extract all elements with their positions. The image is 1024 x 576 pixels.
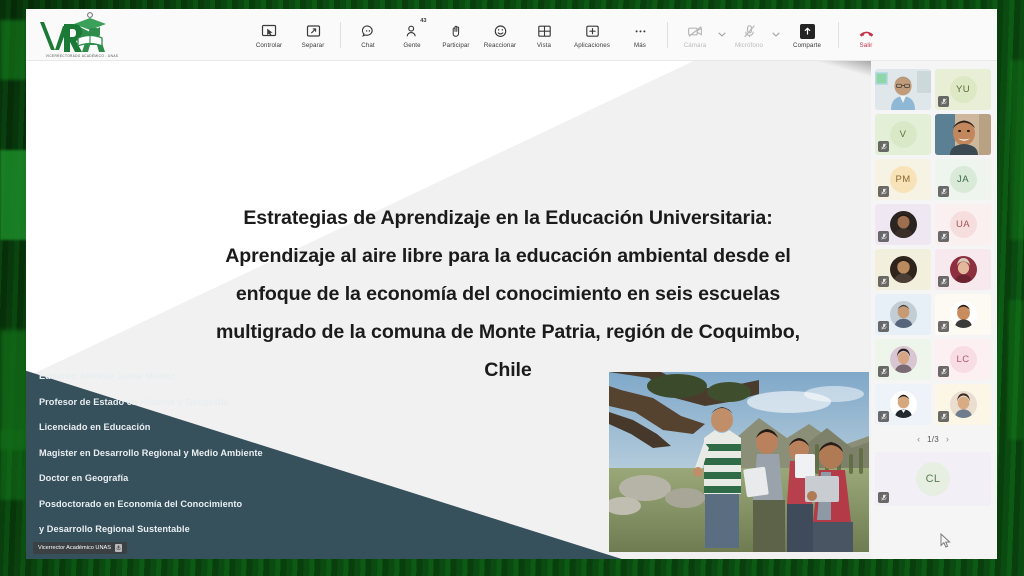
participant-tile-active-speaker[interactable]	[935, 114, 991, 155]
slide-title: Estrategias de Aprendizaje en la Educaci…	[158, 199, 858, 389]
pointer-screen-icon	[261, 20, 277, 39]
logo-subtitle: VICERRECTORADO ACADÉMICO - UNAS	[46, 53, 119, 58]
toolbar-label: Separar	[302, 42, 325, 50]
more-ellipsis-icon	[633, 20, 648, 39]
microphone-muted-icon	[938, 411, 949, 422]
shared-content-stage[interactable]: Estrategias de Aprendizaje en la Educaci…	[26, 61, 871, 559]
participant-tile-ja[interactable]: JA	[935, 159, 991, 200]
microphone-muted-icon	[878, 411, 889, 422]
presentation-slide: Estrategias de Aprendizaje en la Educaci…	[26, 61, 871, 559]
microphone-muted-icon	[938, 96, 949, 107]
avatar-initials: JA	[950, 166, 977, 193]
participant-tile-4[interactable]	[875, 249, 931, 290]
slide-title-line: Aprendizaje al aire libre para la educac…	[158, 237, 858, 275]
toolbar-label: Chat	[361, 42, 374, 50]
toolbar-button-gente[interactable]: 43 Gente	[390, 12, 434, 58]
participant-tile-9[interactable]	[875, 384, 931, 425]
microphone-muted-icon	[878, 492, 889, 503]
credential-line: Profesor de Estado en Historia y Geograf…	[39, 397, 469, 407]
people-count-badge: 43	[420, 18, 426, 24]
author-credentials: Eduardo Antonio Jaime Muñoz Profesor de …	[39, 371, 469, 550]
toolbar-label: Reaccionar	[484, 42, 516, 50]
toolbar-label: Más	[634, 42, 646, 50]
microphone-muted-icon	[938, 321, 949, 332]
microphone-muted-icon	[878, 141, 889, 152]
toolbar-button-participar[interactable]: Participar	[434, 12, 478, 58]
participant-tile-yu[interactable]: YU	[935, 69, 991, 110]
avatar-initials: UA	[950, 211, 977, 238]
hang-up-icon	[858, 20, 875, 39]
detach-window-icon	[306, 20, 321, 39]
toolbar-label: Gente	[403, 42, 420, 50]
toolbar-button-vista[interactable]: Vista	[522, 12, 566, 58]
toolbar-button-controlar[interactable]: Controlar	[247, 12, 291, 58]
slide-title-line: multigrado de la comuna de Monte Patria,…	[158, 313, 858, 351]
toolbar-button-leave[interactable]: Salir	[844, 12, 888, 58]
toolbar-label: Controlar	[256, 42, 282, 50]
pager-indicator: 1/3	[927, 435, 939, 444]
avatar-initials: V	[890, 121, 917, 148]
outdoor-education-photo	[609, 372, 869, 552]
participant-tile-6[interactable]	[875, 294, 931, 335]
slide-title-line: Estrategias de Aprendizaje en la Educaci…	[158, 199, 858, 237]
pager-prev-chevron-icon[interactable]: ‹	[917, 435, 920, 444]
participant-tile-7[interactable]	[935, 294, 991, 335]
microphone-muted-icon	[878, 231, 889, 242]
avatar-initials: YU	[950, 76, 977, 103]
toolbar-controls: Controlar Separar	[138, 9, 997, 61]
avatar-photo	[950, 256, 977, 283]
avatar-initials: PM	[890, 166, 917, 193]
microphone-muted-icon	[938, 366, 949, 377]
raise-hand-icon	[449, 20, 463, 39]
toolbar-button-camera[interactable]: Cámara	[673, 12, 717, 58]
toolbar-divider	[838, 22, 839, 48]
toolbar-button-aplicaciones[interactable]: Aplicaciones	[566, 12, 618, 58]
grid-view-icon	[537, 20, 552, 39]
avatar-photo	[890, 256, 917, 283]
participant-tile-cl[interactable]: CL	[875, 452, 991, 506]
toolbar-button-mas[interactable]: Más	[618, 12, 662, 58]
participant-tile-3[interactable]	[875, 204, 931, 245]
avatar-photo	[890, 211, 917, 238]
camera-off-icon	[687, 20, 704, 39]
toolbar-button-chat[interactable]: Chat	[346, 12, 390, 58]
video-feed	[875, 69, 931, 110]
microphone-muted-icon	[878, 366, 889, 377]
credential-line: y Desarrollo Regional Sustentable	[39, 524, 469, 534]
participant-tile-pm[interactable]: PM	[875, 159, 931, 200]
presenter-name: Vicerrector Académico UNAS	[38, 545, 111, 551]
toolbar-button-separar[interactable]: Separar	[291, 12, 335, 58]
participant-rail: YU V	[871, 61, 997, 559]
credential-line: Posdoctorado en Economía del Conocimient…	[39, 499, 469, 509]
camera-chevron-down-icon[interactable]	[717, 12, 727, 58]
toolbar-divider	[340, 22, 341, 48]
toolbar-divider	[667, 22, 668, 48]
participant-pager: ‹ 1/3 ›	[875, 432, 991, 446]
toolbar-label: Vista	[537, 42, 551, 50]
participant-tile-5[interactable]	[935, 249, 991, 290]
credential-line: Licenciado en Educación	[39, 422, 469, 432]
participant-tile-lc[interactable]: LC	[935, 339, 991, 380]
toolbar-button-comparte[interactable]: Comparte	[781, 12, 833, 58]
avatar-initials: CL	[916, 462, 950, 496]
microphone-muted-icon	[115, 544, 122, 552]
microphone-muted-icon	[938, 186, 949, 197]
microphone-chevron-down-icon[interactable]	[771, 12, 781, 58]
avatar-photo	[950, 301, 977, 328]
microphone-muted-icon	[878, 276, 889, 287]
video-feed	[935, 114, 991, 155]
microphone-muted-icon	[878, 186, 889, 197]
credential-line: Doctor en Geografía	[39, 473, 469, 483]
microphone-off-icon	[742, 20, 757, 39]
toolbar-label: Comparte	[793, 42, 821, 50]
microphone-muted-icon	[938, 276, 949, 287]
avatar-photo	[890, 301, 917, 328]
participant-tile-ua[interactable]: UA	[935, 204, 991, 245]
microphone-muted-icon	[938, 231, 949, 242]
participant-tile-1[interactable]	[875, 69, 931, 110]
slide-title-line: enfoque de la economía del conocimiento …	[158, 275, 858, 313]
microphone-muted-icon	[878, 321, 889, 332]
chat-bubble-icon	[361, 20, 376, 39]
avatar-photo	[950, 391, 977, 418]
toolbar-button-reaccionar[interactable]: Reaccionar	[478, 12, 522, 58]
toolbar-label: Salir	[860, 42, 873, 50]
toolbar-button-microphone[interactable]: Micrófono	[727, 12, 771, 58]
people-icon: 43	[405, 20, 420, 39]
credential-line: Magister en Desarrollo Regional y Medio …	[39, 448, 469, 458]
mouse-cursor	[940, 533, 951, 554]
vra-logo: VICERRECTORADO ACADÉMICO - UNAS	[26, 9, 138, 61]
toolbar-label: Micrófono	[735, 42, 763, 50]
toolbar-label: Aplicaciones	[574, 42, 610, 50]
share-screen-icon	[800, 20, 815, 39]
meeting-toolbar: VICERRECTORADO ACADÉMICO - UNAS Controla…	[26, 9, 997, 61]
credential-line: Eduardo Antonio Jaime Muñoz	[39, 371, 469, 381]
participant-tile-grid: YU V	[875, 69, 991, 425]
participant-tile-v[interactable]: V	[875, 114, 931, 155]
toolbar-label: Cámara	[684, 42, 707, 50]
avatar-initials: LC	[950, 346, 977, 373]
avatar-photo	[890, 391, 917, 418]
presenter-nameplate: Vicerrector Académico UNAS	[33, 542, 127, 554]
participant-tile-10[interactable]	[935, 384, 991, 425]
smiley-icon	[493, 20, 508, 39]
avatar-photo	[890, 346, 917, 373]
pager-next-chevron-icon[interactable]: ›	[946, 435, 949, 444]
meeting-window: VICERRECTORADO ACADÉMICO - UNAS Controla…	[26, 9, 997, 559]
participant-tile-8[interactable]	[875, 339, 931, 380]
apps-plus-icon	[585, 20, 600, 39]
toolbar-label: Participar	[442, 42, 469, 50]
